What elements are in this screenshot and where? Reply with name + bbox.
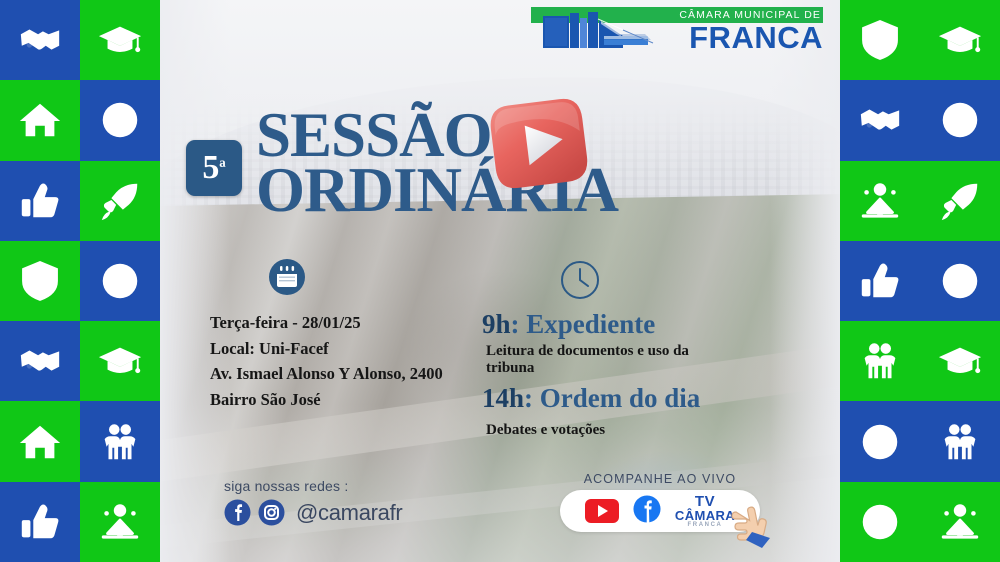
event-details-lines: Terça-feira - 28/01/25Local: Uni-FacefAv… (210, 310, 460, 412)
calendar-icon (268, 258, 306, 296)
heart-icon (937, 258, 983, 304)
medical-cross-icon (857, 419, 903, 465)
schedule-description: Leitura de documentos e uso da tribuna (486, 343, 736, 378)
schedule-time: 9h (482, 309, 511, 339)
instagram-icon[interactable] (258, 499, 285, 526)
heart-icon (97, 258, 143, 304)
icon-cell-medical-cross (840, 401, 920, 481)
youtube-icon[interactable] (585, 499, 619, 523)
rocket-icon (937, 178, 983, 224)
online-learning-icon (857, 178, 903, 224)
social-row: @camarafr (224, 499, 402, 526)
schedule-title: Ordem do dia (540, 383, 701, 413)
event-schedule-block: 9h: ExpedienteLeitura de documentos e us… (468, 258, 758, 439)
event-detail-line: Local: Uni-Facef (210, 336, 460, 362)
icon-cell-thumbs-up (0, 161, 80, 241)
youtube-play-triangle (598, 505, 608, 517)
handshake-icon (17, 17, 63, 63)
event-detail-line: Terça-feira - 28/01/25 (210, 310, 460, 336)
schedule-separator: : (524, 383, 540, 413)
live-block: ACOMPANHE AO VIVO TV CÂMARA FRANCA (560, 472, 760, 532)
rocket-icon (97, 178, 143, 224)
handshake-icon (17, 338, 63, 384)
camara-franca-logo: CÂMARA MUNICIPAL DE FRANCA (531, 7, 823, 55)
clock-icon (558, 258, 602, 302)
icon-cell-people (840, 321, 920, 401)
event-detail-line: Bairro São José (210, 387, 460, 413)
schedule-time: 14h (482, 383, 524, 413)
icon-cell-graduation-cap (920, 321, 1000, 401)
icon-cell-online-learning (80, 482, 160, 562)
online-learning-icon (937, 499, 983, 545)
schedule-description: Debates e votações (486, 422, 736, 440)
handshake-icon (857, 97, 903, 143)
facebook-icon[interactable] (224, 499, 251, 526)
online-learning-icon (97, 499, 143, 545)
icon-cell-home (0, 401, 80, 481)
thumbs-up-icon (17, 178, 63, 224)
pointing-hand-cursor-icon (718, 494, 774, 550)
schedule-heading: 14h: Ordem do dia (482, 384, 758, 414)
session-number: 5 (202, 149, 219, 187)
icon-cell-graduation-cap (80, 321, 160, 401)
facebook-icon[interactable] (633, 495, 661, 528)
icon-cell-people (920, 401, 1000, 481)
social-block: siga nossas redes : @camarafr (224, 478, 402, 526)
icon-cell-heart (920, 241, 1000, 321)
icon-cell-thumbs-up (840, 241, 920, 321)
icon-cell-shield-check (840, 0, 920, 80)
icon-cell-graduation-cap (920, 0, 1000, 80)
logo-title: FRANCA (689, 21, 823, 55)
icon-cell-medical-cross (80, 80, 160, 160)
home-icon (17, 97, 63, 143)
session-number-badge: 5ª (186, 140, 242, 196)
schedule-heading: 9h: Expediente (482, 310, 758, 340)
icon-cell-shield-check (0, 241, 80, 321)
icon-grid-right (840, 0, 1000, 562)
schedule-title: Expediente (526, 309, 655, 339)
play-button-3d-icon (482, 90, 597, 197)
graduation-cap-icon (937, 17, 983, 63)
social-label: siga nossas redes : (224, 478, 402, 494)
icon-cell-rocket (80, 161, 160, 241)
people-icon (937, 419, 983, 465)
schedule-items: 9h: ExpedienteLeitura de documentos e us… (468, 310, 758, 439)
icon-cell-medical-cross (920, 80, 1000, 160)
home-icon (17, 419, 63, 465)
medical-cross-icon (937, 97, 983, 143)
icon-cell-handshake (0, 0, 80, 80)
icon-cell-people (80, 401, 160, 481)
icon-grid-left (0, 0, 160, 562)
schedule-separator: : (511, 309, 527, 339)
heart-icon (857, 499, 903, 545)
people-icon (857, 338, 903, 384)
franca-building-mark (541, 10, 663, 55)
event-poster: CÂMARA MUNICIPAL DE FRANCA 5ª SESSÃO ORD… (0, 0, 1000, 562)
event-detail-line: Av. Ismael Alonso Y Alonso, 2400 (210, 361, 460, 387)
icon-cell-handshake (0, 321, 80, 401)
icon-cell-thumbs-up (0, 482, 80, 562)
icon-cell-online-learning (920, 482, 1000, 562)
background-fade-right (770, 0, 840, 562)
icon-cell-heart (840, 482, 920, 562)
live-channels-pill: TV CÂMARA FRANCA (560, 490, 760, 532)
graduation-cap-icon (937, 338, 983, 384)
live-label: ACOMPANHE AO VIVO (560, 472, 760, 486)
icon-cell-heart (80, 241, 160, 321)
thumbs-up-icon (17, 499, 63, 545)
icon-cell-home (0, 80, 80, 160)
graduation-cap-icon (97, 17, 143, 63)
shield-check-icon (17, 258, 63, 304)
icon-cell-rocket (920, 161, 1000, 241)
icon-cell-handshake (840, 80, 920, 160)
medical-cross-icon (97, 97, 143, 143)
thumbs-up-icon (857, 258, 903, 304)
people-icon (97, 419, 143, 465)
graduation-cap-icon (97, 338, 143, 384)
shield-check-icon (857, 17, 903, 63)
icon-cell-online-learning (840, 161, 920, 241)
social-handle[interactable]: @camarafr (296, 500, 402, 526)
icon-cell-graduation-cap (80, 0, 160, 80)
event-details-block: Terça-feira - 28/01/25Local: Uni-FacefAv… (210, 258, 460, 412)
